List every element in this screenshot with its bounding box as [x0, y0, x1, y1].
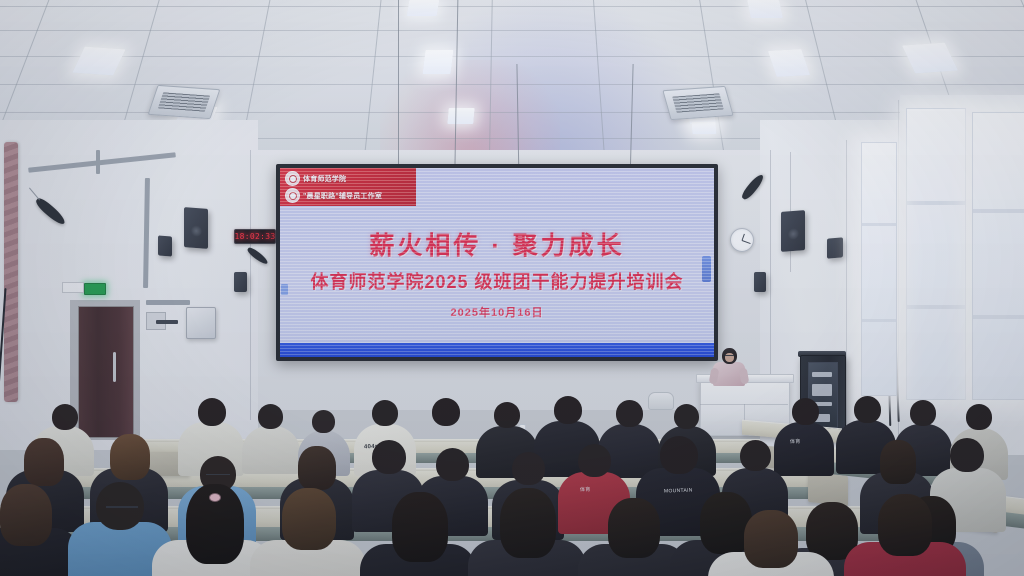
slide-subtitle: 体育师范学院2025 级班团干能力提升培训会 — [280, 268, 714, 294]
shirt-print-text: MOUNTAIN — [664, 488, 693, 495]
studio-emblem-icon — [285, 188, 300, 203]
ceiling-light — [72, 47, 125, 76]
slide-title: 薪火相传 · 聚力成长 — [280, 226, 714, 262]
banner-line-2: "晨星职路"辅导员工作室 — [303, 191, 382, 201]
wall-speaker-small — [827, 237, 843, 258]
ceiling-light — [407, 0, 440, 16]
slide-content: 体育师范学院 "晨星职路"辅导员工作室 薪火相传 · 聚力成长 体育师范学院20… — [280, 168, 714, 357]
led-clock-time: 18:02:33 — [235, 232, 276, 241]
window — [972, 112, 1024, 400]
ceiling-light — [423, 50, 454, 74]
window — [861, 142, 897, 396]
glasses-icon — [725, 355, 734, 358]
wall-conduit-upper — [96, 150, 100, 174]
slide-left-chip — [281, 284, 288, 295]
wall-speaker-small — [158, 235, 172, 256]
ceiling-light — [768, 49, 810, 77]
wall-conduit-horizontal — [146, 300, 190, 305]
led-digital-clock: 18:02:33 — [234, 229, 276, 244]
shirt-print-text: 体育 — [790, 438, 801, 445]
electrical-panel — [186, 307, 216, 339]
ceiling-light — [747, 0, 783, 18]
wall-speaker-small — [754, 272, 766, 292]
ac-cassette-unit — [148, 85, 221, 119]
shirt-print-text: 体育 — [580, 486, 591, 493]
window — [906, 108, 966, 400]
slide-side-badge — [702, 256, 711, 282]
hair-bow-icon — [210, 494, 220, 501]
wall-speaker — [184, 207, 208, 249]
exit-sign-icon — [84, 283, 106, 295]
lecture-hall-photo: 18:02:33 体育师范学院 — [0, 0, 1024, 576]
wall-socket-strip — [156, 320, 178, 324]
college-emblem-icon — [285, 171, 300, 186]
door-handle-icon[interactable] — [113, 352, 116, 382]
projection-screen[interactable]: 体育师范学院 "晨星职路"辅导员工作室 薪火相传 · 聚力成长 体育师范学院20… — [276, 164, 718, 361]
slide-date: 2025年10月16日 — [280, 304, 714, 320]
wall-clock — [730, 228, 754, 252]
wall-speaker — [781, 210, 805, 252]
insulated-pipe — [4, 142, 18, 402]
seat-back — [808, 472, 848, 506]
wall-speaker-small — [234, 272, 247, 292]
ac-cassette-unit — [662, 86, 733, 120]
ceiling-light — [902, 42, 958, 73]
ceiling-light — [692, 122, 717, 134]
slide-header-banner: 体育师范学院 "晨星职路"辅导员工作室 — [280, 168, 416, 206]
ceiling-light — [447, 108, 474, 124]
white-stool — [648, 392, 674, 410]
banner-line-1: 体育师范学院 — [303, 174, 346, 184]
rear-door[interactable] — [78, 306, 134, 438]
slide-accent-bar — [280, 343, 714, 357]
wall-notice-plate — [62, 282, 84, 293]
